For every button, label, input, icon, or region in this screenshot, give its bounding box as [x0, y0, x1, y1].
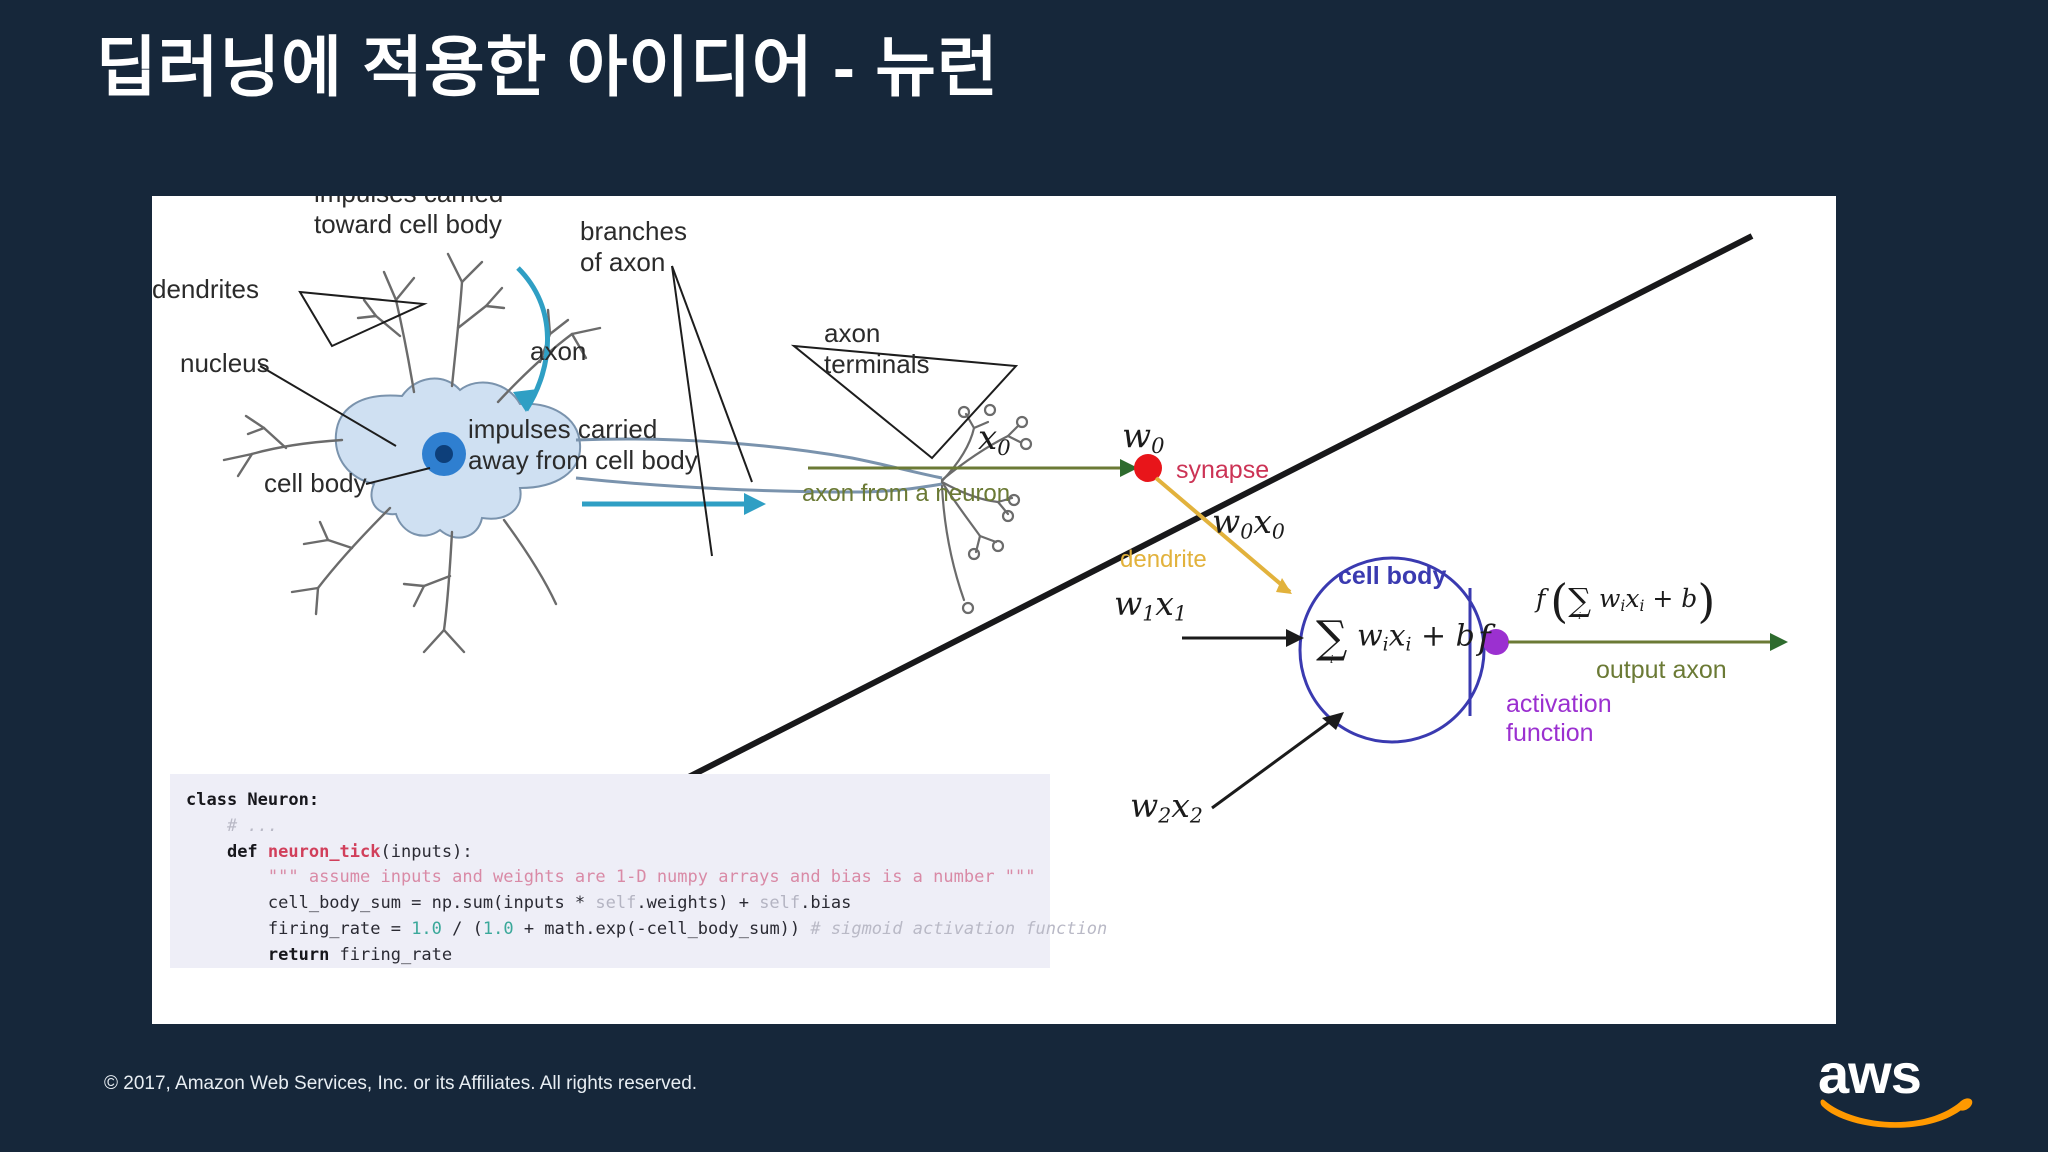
- code-token: .weights) +: [636, 893, 759, 913]
- code-token: return: [268, 945, 340, 965]
- label-output-axon: output axon: [1596, 656, 1727, 685]
- label-activation-function: activation function: [1506, 690, 1612, 748]
- page-title: 딥러닝에 적용한 아이디어 - 뉴런: [96, 26, 999, 109]
- code-line: """ assume inputs and weights are 1-D nu…: [186, 867, 1036, 887]
- code-token: Neuron: [247, 790, 308, 810]
- code-token: 1.0: [483, 919, 514, 939]
- code-line: firing_rate = 1.0 / (1.0 + math.exp(-cel…: [186, 919, 1107, 939]
- code-token: """ assume inputs and weights are 1-D nu…: [268, 867, 1036, 887]
- code-token: cell_body_sum = np.sum(inputs *: [268, 893, 596, 913]
- label-x0: x0: [978, 418, 1011, 460]
- label-branches-of-axon: branches of axon: [580, 216, 687, 277]
- code-token: (inputs):: [381, 842, 473, 862]
- content-panel: impulses carried toward cell body dendri…: [152, 196, 1836, 1024]
- label-cell-body-circle: cell body: [1338, 562, 1446, 591]
- label-w1x1: w1x1: [1114, 584, 1187, 626]
- footer-copyright: © 2017, Amazon Web Services, Inc. or its…: [104, 1073, 697, 1095]
- label-synapse: synapse: [1176, 456, 1269, 485]
- code-token: # sigmoid activation function: [810, 919, 1107, 939]
- label-axon-from-a-neuron: axon from a neuron: [802, 480, 1010, 508]
- code-token: # ...: [227, 816, 278, 836]
- label-dendrites: dendrites: [152, 274, 259, 305]
- label-impulses-away-from-cell-body: impulses carried away from cell body: [468, 414, 698, 475]
- label-f-symbol: f: [1478, 618, 1491, 658]
- code-lines: class Neuron: # ... def neuron_tick(inpu…: [186, 790, 1107, 965]
- code-token: / (: [442, 919, 483, 939]
- code-token: 1.0: [411, 919, 442, 939]
- label-axon-terminals: axon terminals: [824, 318, 929, 379]
- label-sum-expression: ∑i wixi + b: [1316, 612, 1475, 663]
- code-token: self: [595, 893, 636, 913]
- code-token: def: [227, 842, 268, 862]
- label-cell-body: cell body: [264, 468, 367, 499]
- code-token: self: [759, 893, 800, 913]
- code-line: def neuron_tick(inputs):: [186, 842, 473, 862]
- code-line: return firing_rate: [186, 945, 452, 965]
- label-axon: axon: [530, 336, 586, 367]
- label-impulses-toward-cell-body: impulses carried toward cell body: [314, 196, 503, 239]
- label-w0x0: w0x0: [1212, 502, 1285, 544]
- code-line: class Neuron:: [186, 790, 319, 810]
- aws-logo: aws: [1818, 1046, 1978, 1120]
- amazon-smile-icon: [1820, 1094, 1976, 1128]
- label-output-expression: f (∑i wixi + b): [1536, 574, 1715, 628]
- label-w2x2: w2x2: [1130, 786, 1203, 828]
- code-token: neuron_tick: [268, 842, 381, 862]
- slide-root: 딥러닝에 적용한 아이디어 - 뉴런: [0, 0, 2048, 1152]
- label-w0: w0: [1122, 416, 1165, 458]
- code-token: .bias: [800, 893, 851, 913]
- label-nucleus: nucleus: [180, 348, 270, 379]
- code-line: cell_body_sum = np.sum(inputs * self.wei…: [186, 893, 851, 913]
- label-dendrite: dendrite: [1120, 546, 1207, 574]
- code-token: + math.exp(-cell_body_sum)): [514, 919, 811, 939]
- code-token: :: [309, 790, 319, 810]
- code-token: firing_rate =: [268, 919, 411, 939]
- code-token: firing_rate: [340, 945, 453, 965]
- code-block: class Neuron: # ... def neuron_tick(inpu…: [170, 774, 1050, 968]
- code-token: class: [186, 790, 247, 810]
- code-line: # ...: [186, 816, 278, 836]
